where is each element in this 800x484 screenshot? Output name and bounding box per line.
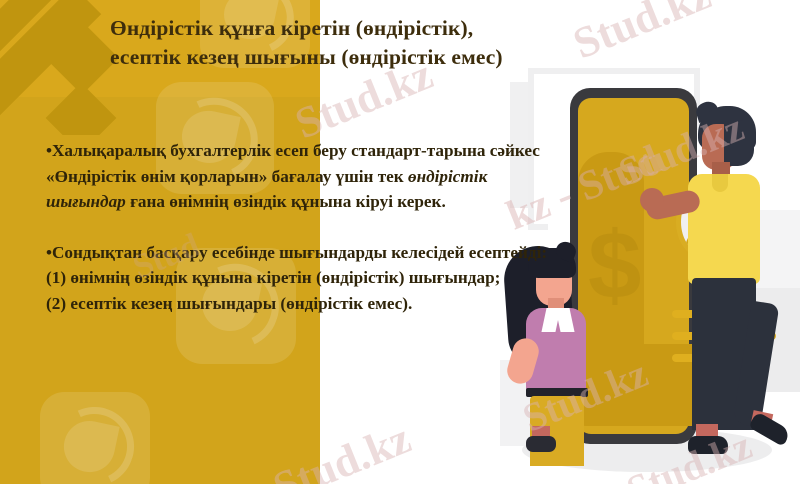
man-figure xyxy=(668,106,790,458)
slide-canvas: $ xyxy=(0,0,800,484)
paragraph-gap xyxy=(46,215,558,240)
man-hair-side xyxy=(724,120,754,166)
page-title-line-1: Өндірістік құнға кіретін (өндірістік), xyxy=(110,14,670,43)
woman-shoe xyxy=(526,436,556,452)
page-title-line-2: есептік кезең шығыны (өндірістік емес) xyxy=(110,43,670,72)
ghost-logo-icon-bottom xyxy=(40,392,150,484)
man-collar xyxy=(712,174,728,192)
man-hand xyxy=(640,188,664,212)
bullet-1-part-3: ғана өнімнің өзіндік құнына кіруі керек. xyxy=(126,192,446,211)
bullet-2: •Сондықтан басқару есебінде шығындарды к… xyxy=(46,240,558,291)
bullet-3: (2) есептік кезең шығындары (өндірістік … xyxy=(46,291,558,317)
page-title: Өндірістік құнға кіретін (өндірістік), е… xyxy=(110,14,670,72)
deco-diamond-2 xyxy=(46,83,117,135)
body-content: •Халықаралық бухгалтерлік есеп беру стан… xyxy=(46,138,558,316)
man-shoe-1 xyxy=(688,436,728,454)
bullet-1: •Халықаралық бухгалтерлік есеп беру стан… xyxy=(46,138,558,215)
